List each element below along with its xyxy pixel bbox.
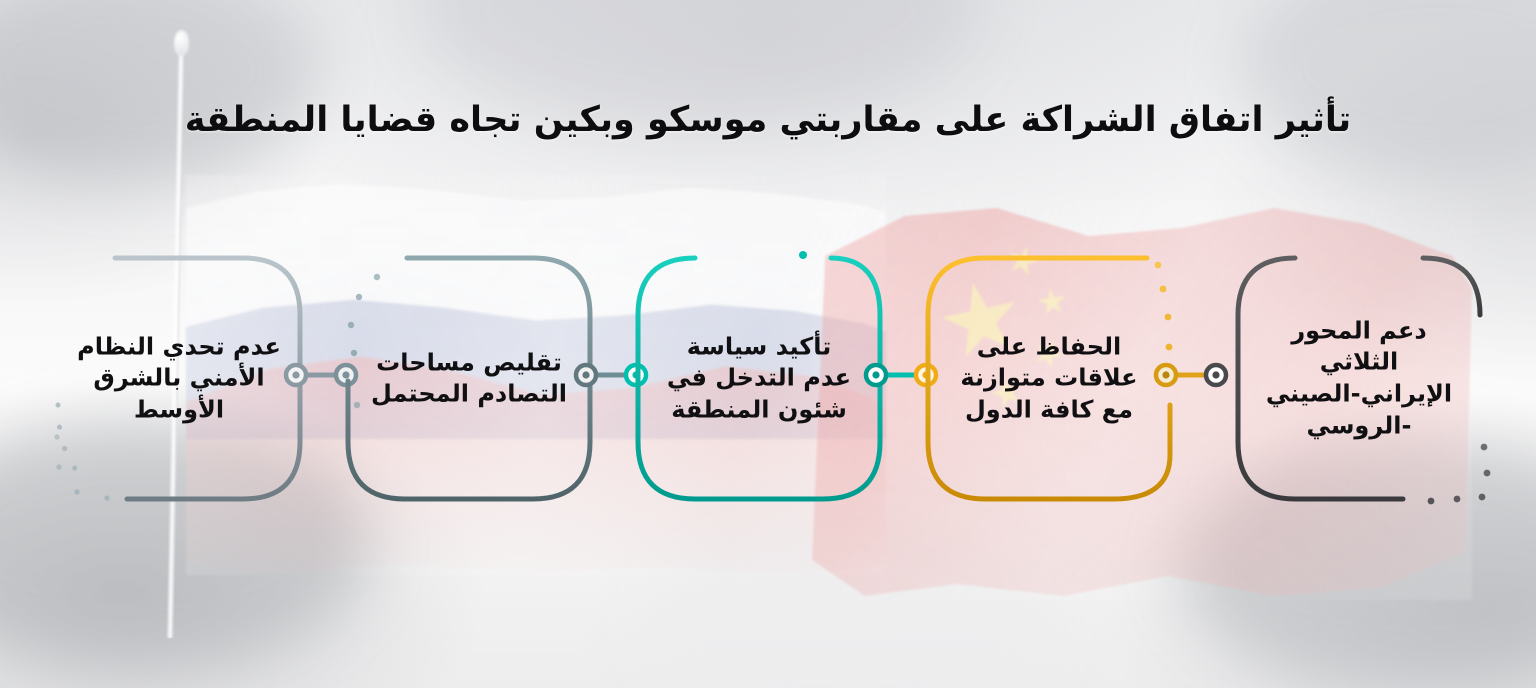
infographic-canvas: تأثير اتفاق الشراكة على مقاربتي موسكو وب… xyxy=(0,0,1536,688)
step-box-4-label: الحفاظ على علاقات متوازنة مع كافة الدول xyxy=(941,331,1157,426)
step-box-2[interactable]: تقليص مساحات التصادم المحتمل xyxy=(345,255,593,502)
step-box-3-label: تأكيد سياسة عدم التدخل في شئون المنطقة xyxy=(651,331,867,426)
step-box-5-label: دعم المحور الثلاثي الإيراني-الصيني -الرو… xyxy=(1251,315,1467,442)
step-box-3[interactable]: تأكيد سياسة عدم التدخل في شئون المنطقة xyxy=(635,255,883,502)
step-box-4[interactable]: الحفاظ على علاقات متوازنة مع كافة الدول xyxy=(925,255,1173,502)
connector-4-5 xyxy=(1156,355,1226,395)
step-box-1-label: عدم تحدي النظام الأمني بالشرق الأوسط xyxy=(71,331,287,426)
process-flow: عدم تحدي النظام الأمني بالشرق الأوسط xyxy=(0,0,1536,688)
step-box-1[interactable]: عدم تحدي النظام الأمني بالشرق الأوسط xyxy=(55,255,303,502)
step-box-2-label: تقليص مساحات التصادم المحتمل xyxy=(361,347,577,410)
step-box-5[interactable]: دعم المحور الثلاثي الإيراني-الصيني -الرو… xyxy=(1235,255,1483,502)
